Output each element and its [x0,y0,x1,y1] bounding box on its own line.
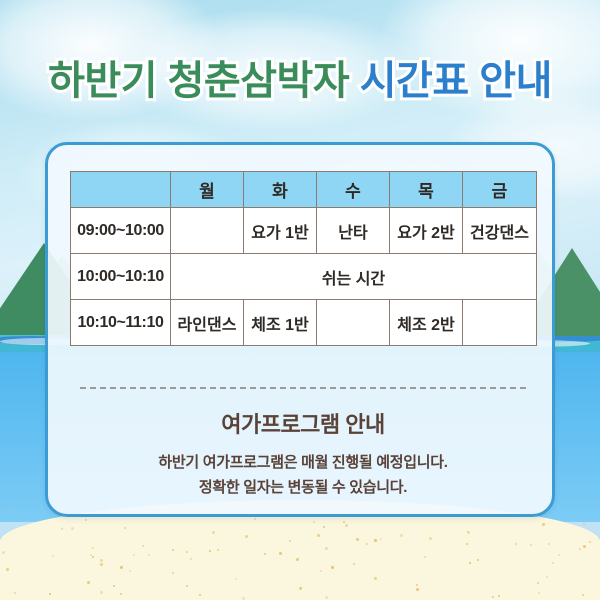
sand-speck [546,576,548,578]
sand-speck [416,588,419,591]
sand-speck [424,556,426,558]
page-title: 하반기 청춘삼박자 시간표 안내 [0,48,600,106]
table-row: 09:00~10:00 요가 1반 난타 요가 2반 건강댄스 [71,208,537,254]
sand-speck [100,563,103,566]
sand-speck [133,554,135,556]
sand-speck [320,570,322,572]
class-cell-wed: 난타 [317,208,390,254]
class-cell-tue: 요가 1반 [244,208,317,254]
notice-heading: 여가프로그램 안내 [48,407,555,439]
sand-speck [345,524,348,527]
table-row-break: 10:00~10:10 쉬는 시간 [71,254,537,300]
class-cell-tue: 체조 1반 [244,300,317,346]
sand-speck [148,554,150,556]
class-cell-fri [463,300,537,346]
sand-speck [85,519,87,521]
sand-speck [323,526,325,528]
page-title-blue: 시간표 안내 [360,59,552,103]
sand-speck [199,594,201,596]
dashed-divider [80,387,526,389]
sand-speck [325,596,328,599]
sand-speck [466,543,468,545]
sand-speck [6,568,9,571]
table-header-wed: 수 [317,172,390,208]
table-header-blank [71,172,171,208]
sand-speck [552,562,554,564]
table-header-mon: 월 [171,172,244,208]
sand-speck [242,597,245,600]
sand-speck [579,548,581,550]
sand-speck [172,572,174,574]
schedule-card: 월 화 수 목 금 09:00~10:00 요가 1반 난타 요가 2반 건강댄… [45,142,555,517]
sand-speck [245,535,248,538]
table-header-row: 월 화 수 목 금 [71,172,537,208]
page-title-green: 하반기 청춘삼박자 [48,59,349,103]
sand-speck [498,595,500,597]
table-row: 10:10~11:10 라인댄스 체조 1반 체조 2반 [71,300,537,346]
sand-speck [542,523,545,526]
sand-speck [313,521,315,523]
sand-speck [120,593,122,595]
sand-speck [71,527,74,530]
sand-speck [492,596,494,598]
sand-speck [92,547,94,549]
class-cell-fri: 건강댄스 [463,208,537,254]
table-header-thu: 목 [390,172,463,208]
sand-speck [583,523,585,525]
class-cell-mon [171,208,244,254]
class-cell-mon: 라인댄스 [171,300,244,346]
table-header-tue: 화 [244,172,317,208]
time-slot-label: 10:10~11:10 [71,300,171,346]
break-time-cell: 쉬는 시간 [171,254,537,300]
time-slot-label: 10:00~10:10 [71,254,171,300]
class-cell-thu: 체조 2반 [390,300,463,346]
class-cell-wed [317,300,390,346]
class-cell-thu: 요가 2반 [390,208,463,254]
sand-speck [2,551,5,554]
sand-speck [100,559,103,562]
sand-speck [113,585,115,587]
beach-sand-base [0,540,600,600]
notice-body: 하반기 여가프로그램은 매월 진행될 예정입니다. 정확한 일자는 변동될 수 … [48,450,555,500]
table-header-fri: 금 [463,172,537,208]
sand-speck [49,593,51,595]
sand-speck [186,585,188,587]
sand-speck [209,550,211,552]
sand-speck [142,545,144,547]
notice-line-1: 하반기 여가프로그램은 매월 진행될 예정입니다. [48,450,555,475]
time-slot-label: 09:00~10:00 [71,208,171,254]
notice-line-2: 정확한 일자는 변동될 수 있습니다. [48,475,555,500]
sand-speck [14,592,16,594]
schedule-table: 월 화 수 목 금 09:00~10:00 요가 1반 난타 요가 2반 건강댄… [70,171,537,346]
sand-speck [317,534,320,537]
